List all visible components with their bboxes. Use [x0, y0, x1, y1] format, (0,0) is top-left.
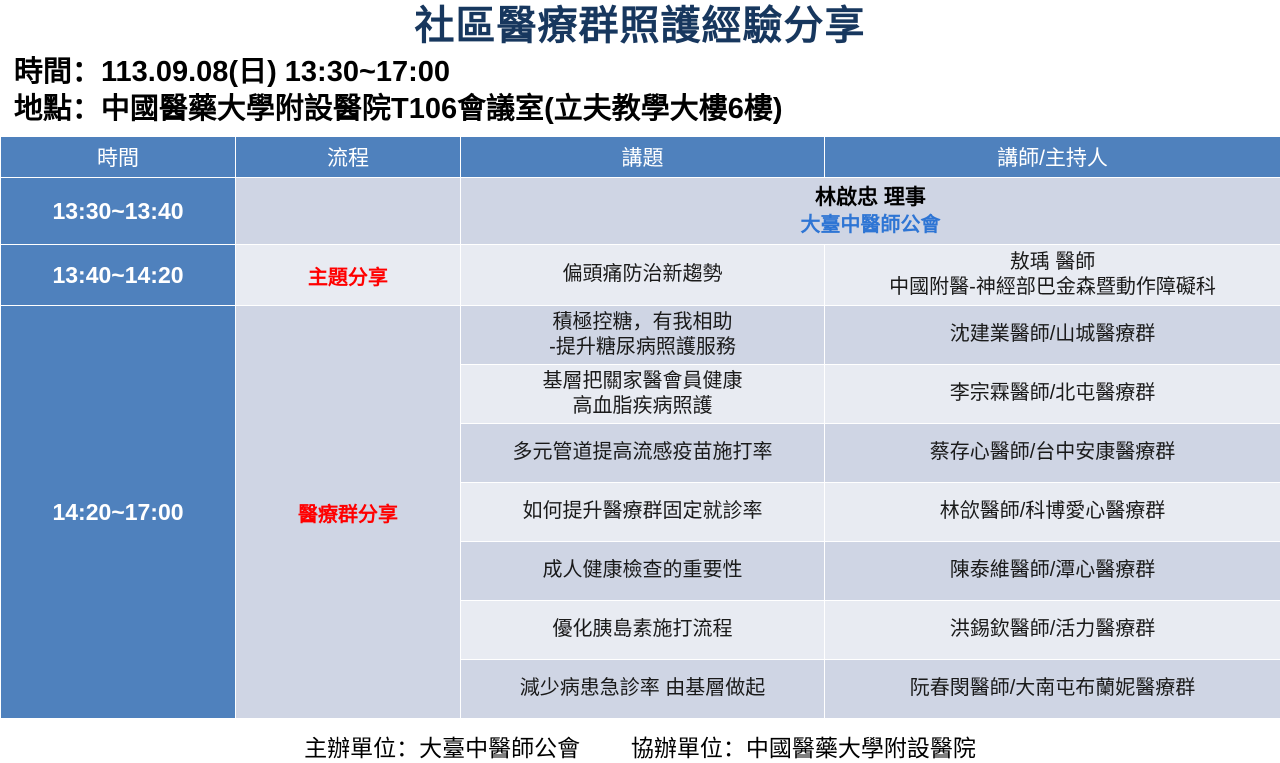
- topic-line-2: 高血脂疾病照護: [465, 394, 820, 420]
- cell-topic: 減少病患急診率 由基層做起: [461, 660, 825, 719]
- poster-header: 社區醫療群照護經驗分享 時間：113.09.08(日) 13:30~17:00 …: [0, 0, 1280, 128]
- cell-topic: 優化胰島素施打流程: [461, 601, 825, 660]
- cell-topic: 如何提升醫療群固定就診率: [461, 483, 825, 542]
- page-title: 社區醫療群照護經驗分享: [10, 0, 1280, 46]
- cell-time: 13:30~13:40: [1, 178, 236, 245]
- column-header-speaker: 講師/主持人: [825, 137, 1280, 178]
- cell-topic: 基層把關家醫會員健康 高血脂疾病照護: [461, 365, 825, 424]
- chair-name: 林啟忠 理事: [465, 184, 1276, 212]
- cell-flow-merged: 醫療群分享: [236, 306, 461, 719]
- cell-topic: 多元管道提高流感疫苗施打率: [461, 424, 825, 483]
- chair-organization: 大臺中醫師公會: [465, 212, 1276, 239]
- poster-footer: 主辦單位：大臺中醫師公會 協辦單位：中國醫藥大學附設醫院: [0, 719, 1280, 763]
- table-body: 13:30~13:40 林啟忠 理事 大臺中醫師公會 13:40~14:20 主…: [1, 178, 1280, 719]
- cell-speaker: 蔡存心醫師/台中安康醫療群: [825, 424, 1280, 483]
- table-row: 13:40~14:20 主題分享 偏頭痛防治新趨勢 敖瑀 醫師 中國附醫-神經部…: [1, 245, 1280, 306]
- cell-chair-info: 林啟忠 理事 大臺中醫師公會: [461, 178, 1280, 245]
- co-organizer-label: 協辦單位：中國醫藥大學附設醫院: [631, 735, 976, 761]
- cell-speaker: 沈建業醫師/山城醫療群: [825, 306, 1280, 365]
- column-header-topic: 講題: [461, 137, 825, 178]
- cell-speaker: 洪錫欽醫師/活力醫療群: [825, 601, 1280, 660]
- table-header-row: 時間 流程 講題 講師/主持人: [1, 137, 1280, 178]
- cell-flow: 主題分享: [236, 245, 461, 306]
- cell-topic: 成人健康檢查的重要性: [461, 542, 825, 601]
- speaker-affiliation: 中國附醫-神經部巴金森暨動作障礙科: [829, 275, 1276, 301]
- seminar-poster: 社區醫療群照護經驗分享 時間：113.09.08(日) 13:30~17:00 …: [0, 0, 1280, 720]
- column-header-flow: 流程: [236, 137, 461, 178]
- cell-speaker: 李宗霖醫師/北屯醫療群: [825, 365, 1280, 424]
- cell-topic: 偏頭痛防治新趨勢: [461, 245, 825, 306]
- table-row: 13:30~13:40 林啟忠 理事 大臺中醫師公會: [1, 178, 1280, 245]
- topic-line-1: 基層把關家醫會員健康: [465, 369, 820, 395]
- cell-speaker: 阮春閔醫師/大南屯布蘭妮醫療群: [825, 660, 1280, 719]
- cell-topic: 積極控糖，有我相助 -提升糖尿病照護服務: [461, 306, 825, 365]
- table-row: 14:20~17:00 醫療群分享 積極控糖，有我相助 -提升糖尿病照護服務 沈…: [1, 306, 1280, 365]
- schedule-table: 時間 流程 講題 講師/主持人 13:30~13:40 林啟忠 理事 大臺中醫師…: [0, 136, 1280, 719]
- event-time-line: 時間：113.09.08(日) 13:30~17:00: [10, 54, 1280, 91]
- cell-time-merged: 14:20~17:00: [1, 306, 236, 719]
- column-header-time: 時間: [1, 137, 236, 178]
- table-header: 時間 流程 講題 講師/主持人: [1, 137, 1280, 178]
- cell-time: 13:40~14:20: [1, 245, 236, 306]
- speaker-name: 敖瑀 醫師: [829, 250, 1276, 276]
- topic-line-1: 積極控糖，有我相助: [465, 310, 820, 336]
- cell-speaker: 陳泰維醫師/潭心醫療群: [825, 542, 1280, 601]
- organizer-label: 主辦單位：大臺中醫師公會: [304, 735, 580, 761]
- event-place-line: 地點：中國醫藥大學附設醫院T106會議室(立夫教學大樓6樓): [10, 91, 1280, 128]
- cell-speaker: 敖瑀 醫師 中國附醫-神經部巴金森暨動作障礙科: [825, 245, 1280, 306]
- cell-flow: [236, 178, 461, 245]
- cell-speaker: 林欱醫師/科博愛心醫療群: [825, 483, 1280, 542]
- topic-line-2: -提升糖尿病照護服務: [465, 335, 820, 361]
